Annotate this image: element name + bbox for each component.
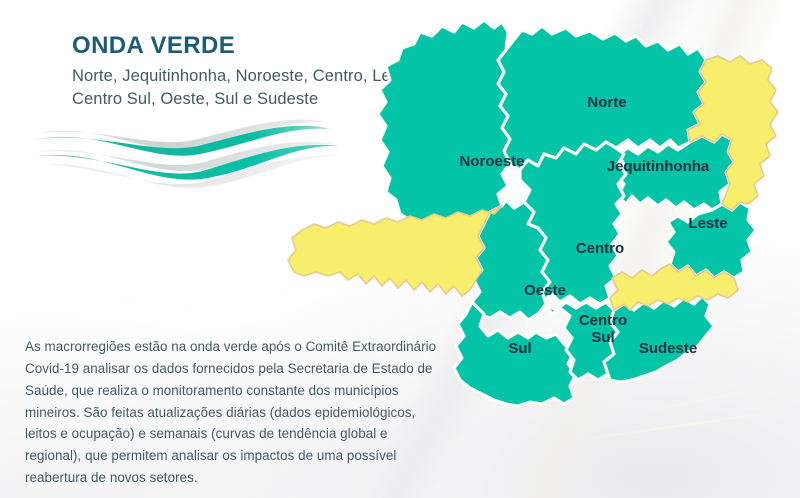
map-region-leste[interactable] bbox=[666, 202, 756, 278]
infographic-canvas: ONDA VERDE Norte, Jequitinhonha, Noroest… bbox=[0, 0, 800, 498]
map-label-centro: Centro bbox=[576, 240, 624, 257]
map-label-leste: Leste bbox=[688, 215, 727, 232]
map-label-sul: Sul bbox=[508, 340, 531, 357]
map-label-sudeste: Sudeste bbox=[639, 340, 697, 357]
map-label-jequitinhonha: Jequitinhonha bbox=[607, 158, 710, 175]
map-region-sudeste[interactable] bbox=[604, 296, 714, 382]
map-label-oeste: Oeste bbox=[524, 282, 566, 299]
map-label-noroeste: Noroeste bbox=[459, 153, 524, 170]
body-paragraph: As macrorregiões estão na onda verde apó… bbox=[25, 336, 437, 489]
map-region-triangulo-amarela[interactable] bbox=[288, 206, 502, 296]
map-label-norte: Norte bbox=[587, 94, 626, 111]
map-label-centro-sul-line2: Sul bbox=[591, 329, 614, 346]
map-label-centro-sul: Centro bbox=[579, 312, 627, 329]
map-region-noroeste[interactable] bbox=[378, 20, 510, 240]
